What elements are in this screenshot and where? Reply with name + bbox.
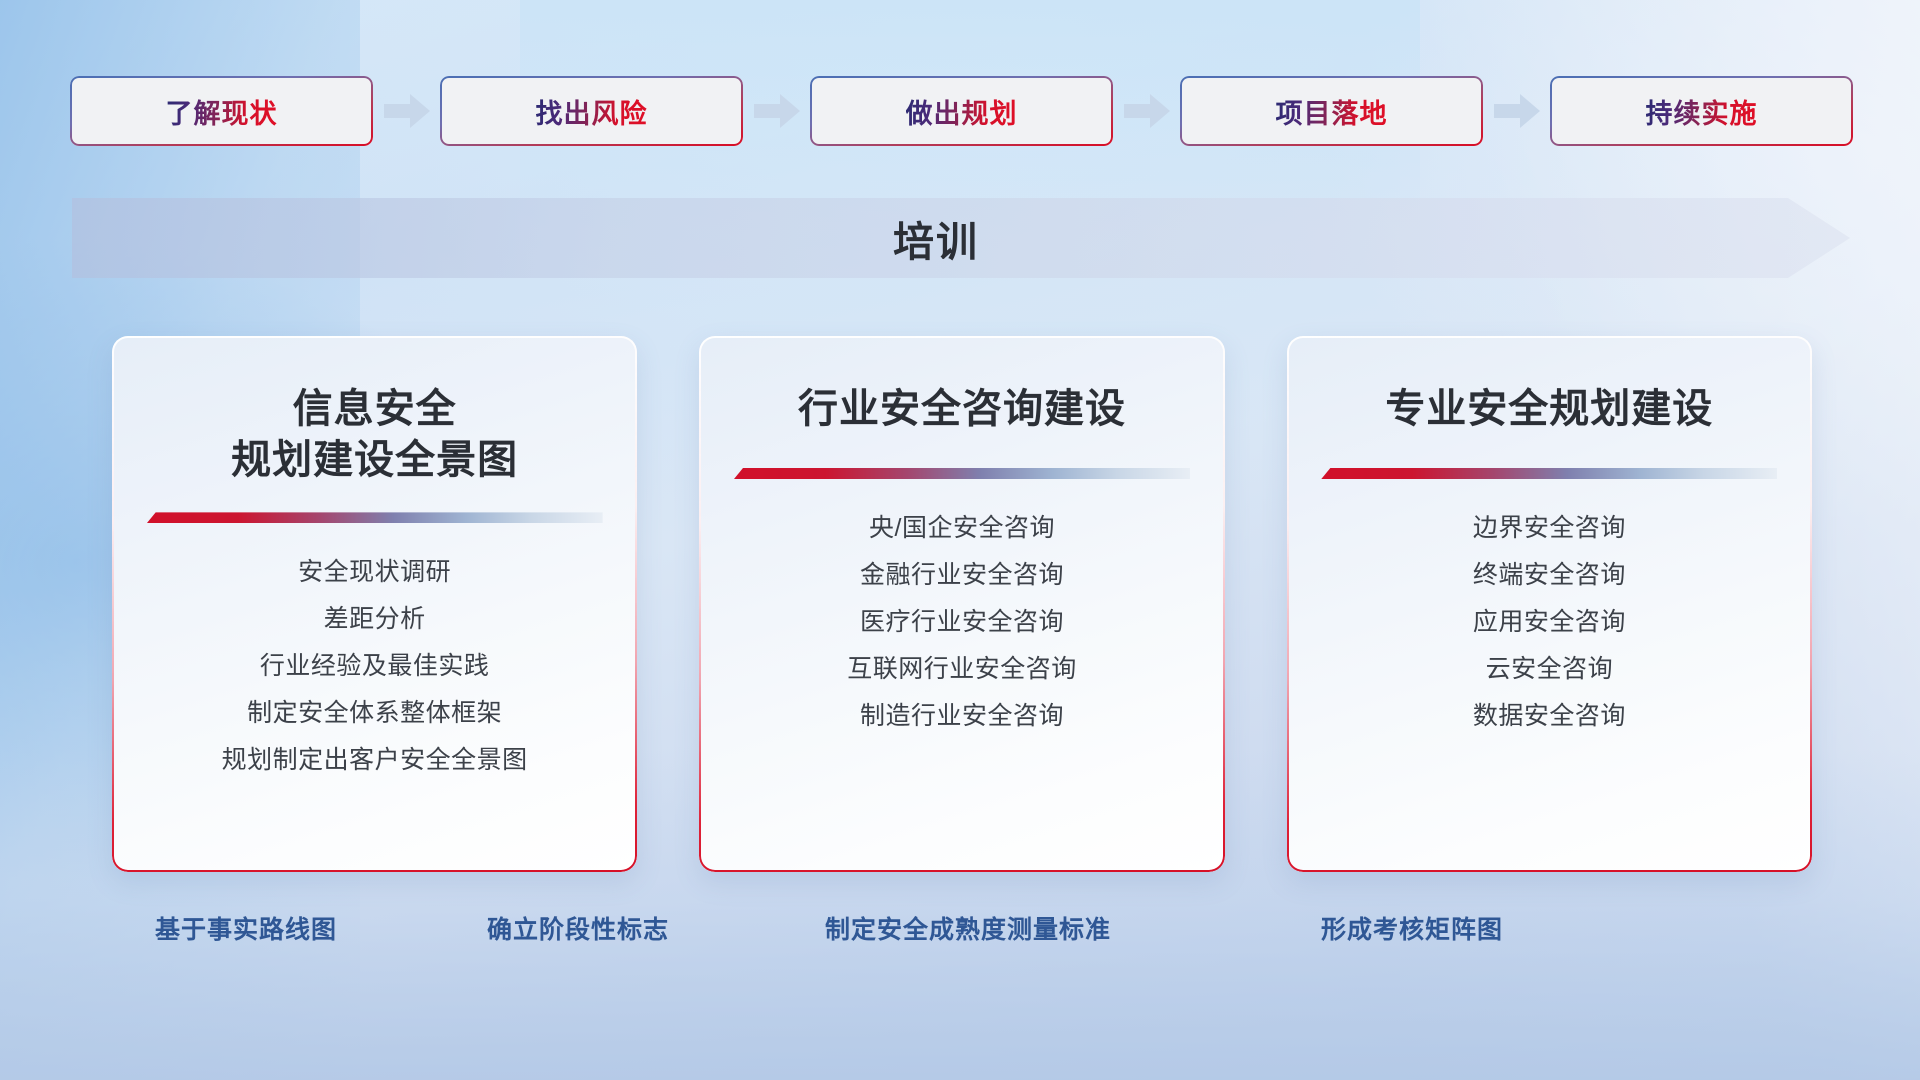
card-divider-1 — [147, 512, 603, 523]
card-title-1-line2: 规划建设全景图 — [231, 435, 518, 486]
card-title-2: 行业安全咨询建设 — [798, 384, 1126, 442]
step-box-2[interactable]: 找出风险 — [440, 76, 743, 146]
card-title-3: 专业安全规划建设 — [1385, 384, 1713, 442]
list-item: 医疗行业安全咨询 — [860, 607, 1064, 637]
card-row: 信息安全 规划建设全景图 安全现状调研 差距分析 行业经验及最佳实践 制定安全体… — [112, 336, 1812, 872]
card-divider-3 — [1321, 468, 1777, 479]
card-information-security-blueprint[interactable]: 信息安全 规划建设全景图 安全现状调研 差距分析 行业经验及最佳实践 制定安全体… — [112, 336, 637, 872]
step-box-3[interactable]: 做出规划 — [810, 76, 1113, 146]
banner-title: 培训 — [72, 208, 1850, 268]
bottom-label-2: 确立阶段性标志 — [487, 910, 669, 946]
card-professional-security-planning[interactable]: 专业安全规划建设 边界安全咨询 终端安全咨询 应用安全咨询 云安全咨询 数据安全… — [1287, 336, 1812, 872]
step-label-4: 项目落地 — [1276, 92, 1388, 131]
list-item: 规划制定出客户安全全景图 — [222, 745, 528, 775]
card-list-1: 安全现状调研 差距分析 行业经验及最佳实践 制定安全体系整体框架 规划制定出客户… — [140, 557, 609, 775]
card-list-3: 边界安全咨询 终端安全咨询 应用安全咨询 云安全咨询 数据安全咨询 — [1315, 513, 1784, 731]
process-step-row: 了解现状 找出风险 做出规划 项目落地 持续实施 — [70, 76, 1856, 146]
step-label-5: 持续实施 — [1646, 92, 1758, 131]
bottom-label-row: 基于事实路线图 确立阶段性标志 制定安全成熟度测量标准 形成考核矩阵图 — [0, 910, 1920, 956]
list-item: 云安全咨询 — [1486, 654, 1614, 684]
step-arrow-icon-1 — [373, 76, 440, 146]
step-label-1: 了解现状 — [166, 92, 278, 131]
list-item: 边界安全咨询 — [1473, 513, 1626, 543]
list-item: 制定安全体系整体框架 — [247, 698, 502, 728]
step-arrow-icon-2 — [743, 76, 810, 146]
list-item: 差距分析 — [324, 604, 426, 634]
list-item: 制造行业安全咨询 — [860, 701, 1064, 731]
list-item: 应用安全咨询 — [1473, 607, 1626, 637]
list-item: 互联网行业安全咨询 — [847, 654, 1077, 684]
step-box-5[interactable]: 持续实施 — [1550, 76, 1853, 146]
step-arrow-icon-3 — [1113, 76, 1180, 146]
bottom-label-1: 基于事实路线图 — [155, 910, 337, 946]
list-item: 安全现状调研 — [298, 557, 451, 587]
list-item: 行业经验及最佳实践 — [260, 651, 490, 681]
list-item: 终端安全咨询 — [1473, 560, 1626, 590]
step-arrow-icon-4 — [1483, 76, 1550, 146]
list-item: 数据安全咨询 — [1473, 701, 1626, 731]
card-divider-2 — [734, 468, 1190, 479]
list-item: 央/国企安全咨询 — [869, 513, 1055, 543]
card-industry-security-consulting[interactable]: 行业安全咨询建设 央/国企安全咨询 金融行业安全咨询 医疗行业安全咨询 互联网行… — [699, 336, 1224, 872]
card-title-1: 信息安全 规划建设全景图 — [231, 384, 518, 486]
card-title-1-line1: 信息安全 — [231, 384, 518, 435]
list-item: 金融行业安全咨询 — [860, 560, 1064, 590]
step-label-2: 找出风险 — [536, 92, 648, 131]
training-banner: 培训 — [72, 198, 1850, 278]
card-title-3-line1: 专业安全规划建设 — [1385, 384, 1713, 435]
step-box-4[interactable]: 项目落地 — [1180, 76, 1483, 146]
card-list-2: 央/国企安全咨询 金融行业安全咨询 医疗行业安全咨询 互联网行业安全咨询 制造行… — [727, 513, 1196, 731]
bottom-label-4: 形成考核矩阵图 — [1321, 910, 1503, 946]
step-label-3: 做出规划 — [906, 92, 1018, 131]
step-box-1[interactable]: 了解现状 — [70, 76, 373, 146]
card-title-2-line1: 行业安全咨询建设 — [798, 384, 1126, 435]
bottom-label-3: 制定安全成熟度测量标准 — [825, 910, 1111, 946]
